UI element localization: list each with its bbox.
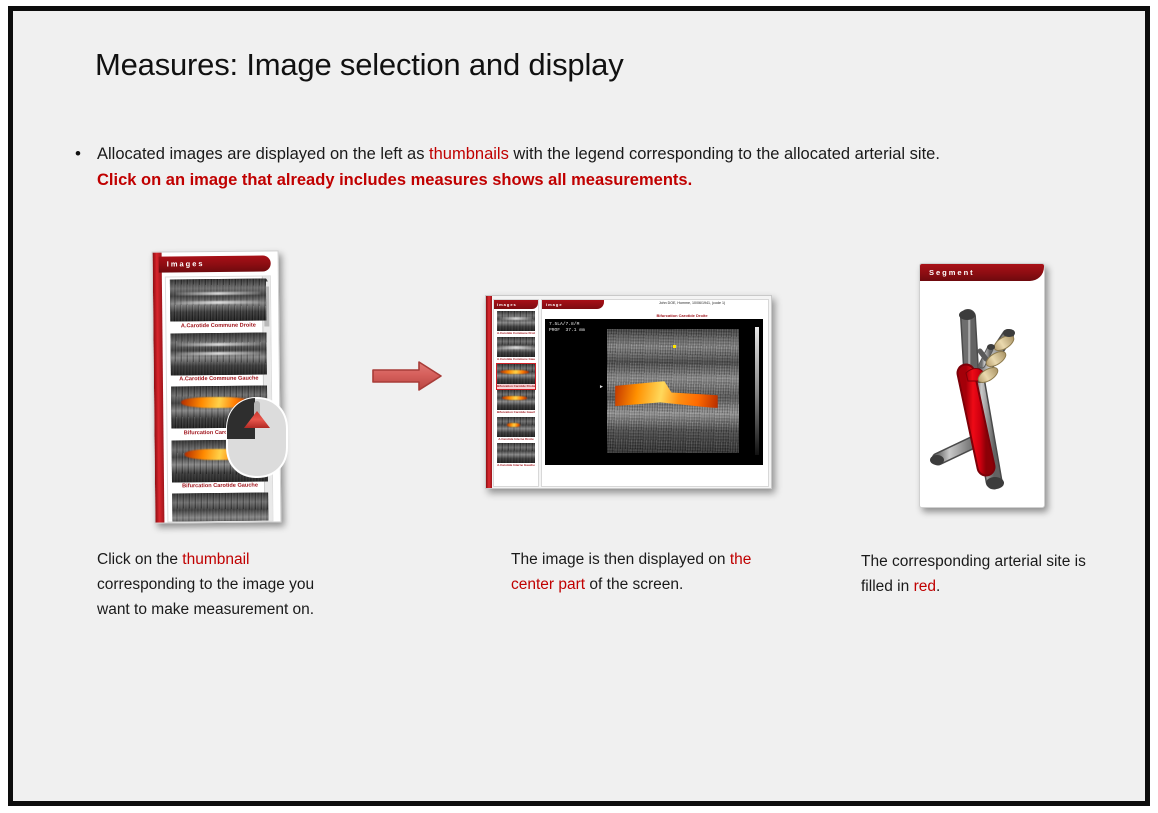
list-item[interactable]: A.Carotide Interne Droite (168, 492, 273, 522)
thumbnail-label: A.Carotide Interne Droite (497, 437, 535, 442)
thumbnail-image[interactable] (497, 364, 535, 384)
center-sidebar-header: Images (494, 300, 538, 309)
ultrasound-canvas[interactable]: 7.5LA/7.8/M PROF 37.1 mm ► (545, 319, 763, 465)
caption-center: The image is then displayed on the cente… (511, 547, 759, 597)
caption-left: Click on the thumbnail corresponding to … (97, 547, 347, 622)
thumbnail-label: A.Carotide Commune Droite (497, 331, 535, 336)
list-item[interactable]: A.Carotide Commune Gauche (497, 337, 535, 362)
thumbnail-image[interactable] (497, 443, 535, 463)
left-red-rail (153, 253, 165, 523)
thumbnail-label: Bifurcation Carotide Droite (497, 384, 535, 389)
caption-left-part2: corresponding to the image you want to m… (97, 576, 314, 618)
bullet-block: • Allocated images are displayed on the … (75, 141, 945, 193)
thumbnail-image[interactable] (170, 332, 266, 375)
list-item[interactable]: A.Carotide Interne Gauche (497, 443, 535, 468)
caption-right: The corresponding arterial site is fille… (861, 549, 1106, 599)
tab-image[interactable]: Image (542, 300, 604, 309)
bullet-marker: • (75, 141, 97, 167)
caption-left-highlight: thumbnail (182, 551, 249, 568)
bullet-text-part2: with the legend corresponding to the all… (509, 145, 940, 163)
center-main-header: Image John DOE, Homme, 10/06/1941, (code… (542, 300, 768, 311)
main-application-screenshot: Images A.Carotide Commune Droite A.Carot… (485, 295, 772, 489)
mouse-left-click-icon (225, 397, 289, 479)
segment-panel-header: Segment (920, 264, 1044, 281)
caption-left-part1: Click on the (97, 551, 182, 568)
caption-right-part2: . (936, 578, 940, 595)
list-item-selected[interactable]: Bifurcation Carotide Droite (497, 364, 535, 389)
depth-marker-icon: ► (599, 385, 604, 390)
list-item[interactable]: A.Carotide Commune Droite (166, 278, 271, 331)
thumbnail-label: A.Carotide Commune Droite (166, 320, 270, 331)
list-item[interactable]: A.Carotide Interne Droite (497, 417, 535, 442)
caption-center-part1: The image is then displayed on (511, 551, 730, 568)
thumbnail-image[interactable] (497, 390, 535, 410)
ultrasound-image (607, 329, 739, 453)
bullet-text: Allocated images are displayed on the le… (97, 141, 945, 193)
thumbnail-label: A.Carotide Interne Gauche (497, 463, 535, 468)
grayscale-bar (755, 327, 759, 455)
images-panel-header: Images (159, 255, 271, 272)
list-item[interactable]: Bifurcation Carotide Gauche (497, 390, 535, 415)
caption-center-part2: of the screen. (585, 576, 683, 593)
overlay-line-2: PROF 37.1 mm (549, 328, 585, 334)
thumbnail-label: A.Carotide Commune Gauche (497, 357, 535, 362)
slide-frame: Measures: Image selection and display • … (8, 6, 1150, 806)
bullet-text-part1: Allocated images are displayed on the le… (97, 145, 429, 163)
thumbnail-image[interactable] (497, 337, 535, 357)
marker-dot (673, 345, 676, 348)
thumbnail-panel-screenshot: Images ▲ A.Carotide Commune Droite (152, 250, 282, 523)
caption-right-highlight: red (914, 578, 936, 595)
center-red-rail (486, 296, 492, 488)
thumbnail-image[interactable] (172, 492, 268, 522)
segment-panel-screenshot: Segment (919, 263, 1045, 508)
caption-right-part1: The corresponding arterial site is fille… (861, 553, 1086, 595)
thumbnail-label: A.Carotide Commune Gauche (167, 374, 271, 385)
bullet-highlight-thumbnails: thumbnails (429, 145, 509, 163)
carotid-artery-diagram-icon (920, 281, 1044, 507)
right-arrow-icon (371, 359, 445, 393)
thumbnail-image[interactable] (497, 417, 535, 437)
list-item[interactable]: A.Carotide Commune Droite (497, 311, 535, 336)
list-item[interactable]: A.Carotide Commune Gauche (166, 332, 271, 385)
center-main-viewer: Image John DOE, Homme, 10/06/1941, (code… (541, 299, 769, 487)
page-title: Measures: Image selection and display (95, 47, 624, 83)
segment-diagram-body (920, 281, 1044, 507)
thumbnail-image[interactable] (497, 311, 535, 331)
thumbnail-label: Bifurcation Carotide Gauche (168, 481, 272, 492)
patient-info: John DOE, Homme, 10/06/1941, (code 1) (622, 301, 762, 306)
thumbnail-image[interactable] (170, 278, 266, 321)
bullet-highlight-click: Click on an image that already includes … (97, 171, 692, 189)
arterial-site-label: Bifurcation Carotide Droite (602, 313, 762, 318)
thumbnail-label: Bifurcation Carotide Gauche (497, 410, 535, 415)
center-thumbnail-sidebar[interactable]: Images A.Carotide Commune Droite A.Carot… (493, 299, 539, 487)
